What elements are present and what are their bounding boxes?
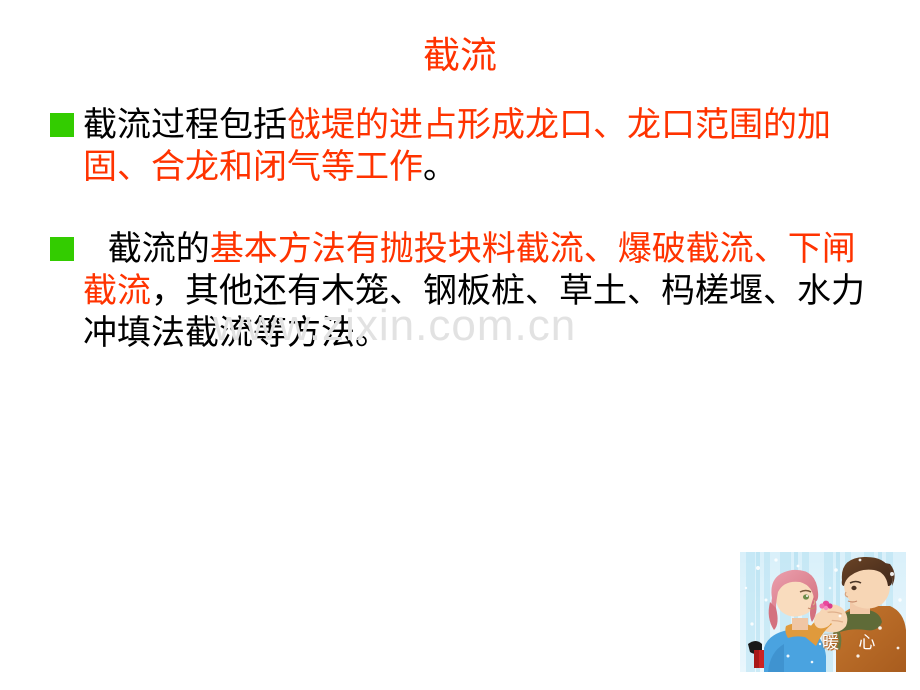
bullet-text-1: 截流过程包括戗堤的进占形成龙口、龙口范围的加固、合龙和闭气等工作。 [83,104,880,188]
bullet-1-segment-1: 截流过程包括 [83,105,287,145]
bullet-item-1: 截流过程包括戗堤的进占形成龙口、龙口范围的加固、合龙和闭气等工作。 [50,104,880,188]
bullet-item-2: 截流的基本方法有抛投块料截流、爆破截流、下闸截流，其他还有木笼、钢板桩、草土、杩… [50,228,880,354]
bullet-1-segment-3: 。 [423,147,457,187]
slide-title: 截流 [0,34,920,78]
bullet-row: 截流的基本方法有抛投块料截流、爆破截流、下闸截流，其他还有木笼、钢板桩、草土、杩… [50,228,880,354]
bullet-row: 截流过程包括戗堤的进占形成龙口、龙口范围的加固、合龙和闭气等工作。 [50,104,880,188]
square-bullet-icon [50,113,74,137]
square-bullet-icon [50,237,74,261]
illustration-artwork [740,552,906,672]
bullet-text-2: 截流的基本方法有抛投块料截流、爆破截流、下闸截流，其他还有木笼、钢板桩、草土、杩… [83,228,880,354]
bullet-2-segment-3: ，其他还有木笼、钢板桩、草土、杩槎堰、水力冲填法截流等方法。 [83,271,865,353]
winter-couple-illustration: 暖 心 [740,552,906,672]
presentation-slide: 截流 截流过程包括戗堤的进占形成龙口、龙口范围的加固、合龙和闭气等工作。 截流的… [0,0,920,690]
bullet-2-segment-1: 截流的 [97,229,210,269]
